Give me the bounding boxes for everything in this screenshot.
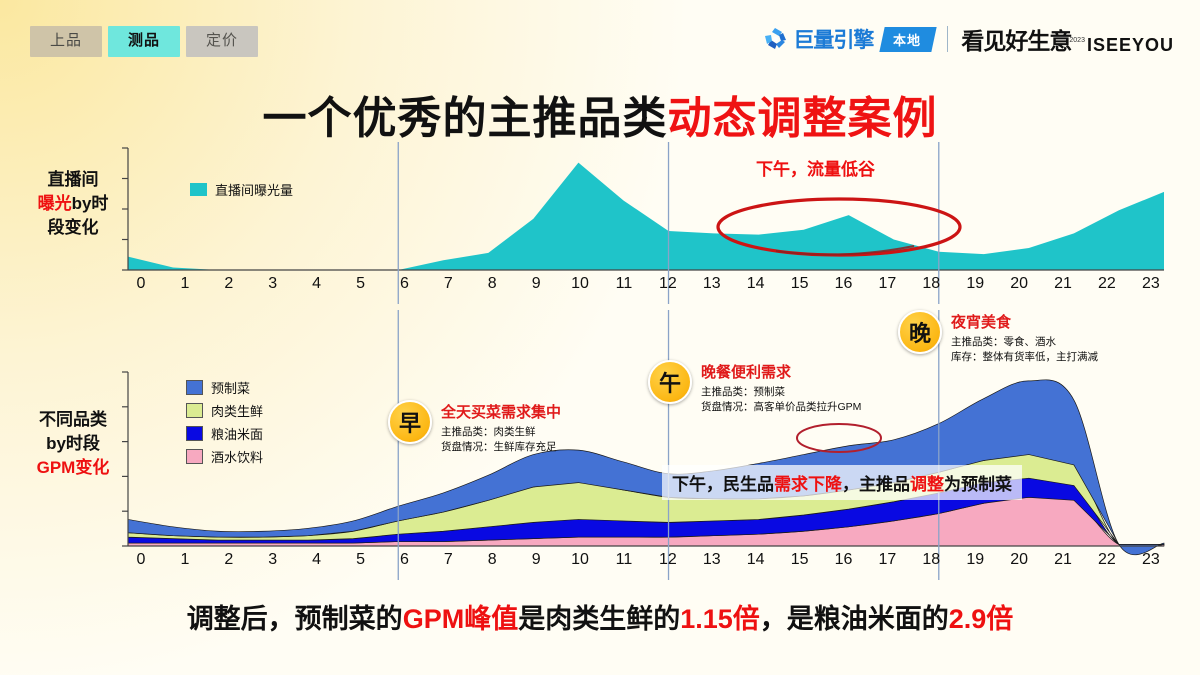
legend-label-jiushui: 酒水饮料 xyxy=(211,447,263,466)
badge-noon: 午 xyxy=(648,360,692,404)
page-title: 一个优秀的主推品类动态调整案例 xyxy=(0,82,1200,146)
x-tick-4: 4 xyxy=(304,275,330,293)
x-tick-10: 10 xyxy=(567,275,593,293)
legend-label-yuzhicai: 预制菜 xyxy=(211,378,250,397)
badge-evening: 晚 xyxy=(898,310,942,354)
iseeyou-logo: 看见好生意 2023 ISEEYOU xyxy=(961,22,1174,56)
x-tick-5: 5 xyxy=(348,275,374,293)
x-tick-12: 12 xyxy=(655,551,681,569)
card-evening-line2: 库存：整体有货率低，主打满减 xyxy=(951,350,1098,365)
footer-part3: ，是粮油米面的 xyxy=(760,604,949,634)
legend-exposure: 直播间曝光量 xyxy=(190,180,293,199)
x-tick-11: 11 xyxy=(611,551,637,569)
x-tick-21: 21 xyxy=(1050,551,1076,569)
tab-dingjia[interactable]: 定价 xyxy=(186,26,258,57)
brand-divider xyxy=(947,26,948,52)
x-tick-6: 6 xyxy=(391,551,417,569)
x-tick-2: 2 xyxy=(216,551,242,569)
legend-item-liangyou: 粮油米面 xyxy=(186,424,263,443)
annotation-traffic-valley: 下午，流量低谷 xyxy=(756,155,875,180)
card-noon: 午 晚餐便利需求 主推品类：预制菜 货盘情况：高客单价品类拉升GPM xyxy=(648,360,861,415)
x-tick-12: 12 xyxy=(655,275,681,293)
gpm-chart-x-axis: 01234567891011121314151617181920212223 xyxy=(128,548,1164,572)
x-tick-18: 18 xyxy=(918,551,944,569)
x-tick-19: 19 xyxy=(962,551,988,569)
side-label2-line3: GPM变化 xyxy=(18,456,128,480)
iseeyou-cn: 看见好生意 xyxy=(961,22,1071,56)
x-tick-14: 14 xyxy=(743,275,769,293)
legend-label-exposure: 直播间曝光量 xyxy=(215,180,293,199)
x-tick-21: 21 xyxy=(1050,275,1076,293)
title-black: 一个优秀的主推品类 xyxy=(263,94,668,143)
footer-red2: 1.15倍 xyxy=(680,604,760,634)
banner-red1: 需求下降 xyxy=(774,475,842,494)
x-tick-8: 8 xyxy=(479,551,505,569)
brand-lockup: 巨量引擎 本地 看见好生意 2023 ISEEYOU xyxy=(764,22,1174,56)
card-noon-heading: 晚餐便利需求 xyxy=(701,361,861,382)
x-tick-7: 7 xyxy=(435,275,461,293)
legend-label-roulei: 肉类生鲜 xyxy=(211,401,263,420)
legend-swatch-exposure xyxy=(190,183,207,196)
category-gpm-stacked-area-chart xyxy=(128,372,1164,546)
legend-item-yuzhicai: 预制菜 xyxy=(186,378,263,397)
x-tick-3: 3 xyxy=(260,275,286,293)
juliang-engine-logo: 巨量引擎 xyxy=(764,24,873,54)
stage-tabs: 上品 测品 定价 xyxy=(30,26,258,57)
juliang-mark-icon xyxy=(764,27,788,51)
x-tick-17: 17 xyxy=(874,551,900,569)
legend-swatch-roulei xyxy=(186,403,203,418)
x-tick-19: 19 xyxy=(962,275,988,293)
legend-categories: 预制菜 肉类生鲜 粮油米面 酒水饮料 xyxy=(186,378,263,470)
x-tick-20: 20 xyxy=(1006,551,1032,569)
card-morning-heading: 全天买菜需求集中 xyxy=(441,401,561,422)
side-label-exposure: 直播间 曝光by时 段变化 xyxy=(18,168,128,240)
title-red: 动态调整案例 xyxy=(668,94,938,143)
x-tick-23: 23 xyxy=(1138,275,1164,293)
x-tick-1: 1 xyxy=(172,551,198,569)
x-tick-15: 15 xyxy=(787,275,813,293)
x-tick-22: 22 xyxy=(1094,551,1120,569)
x-tick-0: 0 xyxy=(128,551,154,569)
x-tick-4: 4 xyxy=(304,551,330,569)
card-evening-line1: 主推品类：零食、酒水 xyxy=(951,335,1098,350)
x-tick-11: 11 xyxy=(611,275,637,293)
banner-part3: 为预制菜 xyxy=(944,475,1012,494)
local-badge: 本地 xyxy=(880,27,937,52)
side-label2-line2: by时段 xyxy=(18,432,128,456)
x-tick-5: 5 xyxy=(348,551,374,569)
x-tick-6: 6 xyxy=(391,275,417,293)
side-label-line1: 直播间 xyxy=(18,168,128,192)
side-label2-line1: 不同品类 xyxy=(18,408,128,432)
banner-part1: 下午，民生品 xyxy=(672,475,774,494)
exposure-area xyxy=(128,163,1164,270)
card-morning-line2: 货盘情况：生鲜库存充足 xyxy=(441,440,561,455)
banner-part2: ，主推品 xyxy=(842,475,910,494)
x-tick-22: 22 xyxy=(1094,275,1120,293)
x-tick-7: 7 xyxy=(435,551,461,569)
legend-label-liangyou: 粮油米面 xyxy=(211,424,263,443)
card-morning-line1: 主推品类：肉类生鲜 xyxy=(441,425,561,440)
x-tick-20: 20 xyxy=(1006,275,1032,293)
badge-morning: 早 xyxy=(388,400,432,444)
iseeyou-en: ISEEYOU xyxy=(1087,35,1174,56)
footer-summary: 调整后，预制菜的GPM峰值是肉类生鲜的1.15倍，是粮油米面的2.9倍 xyxy=(0,597,1200,636)
x-tick-2: 2 xyxy=(216,275,242,293)
juliang-engine-text: 巨量引擎 xyxy=(793,24,873,54)
card-noon-line2: 货盘情况：高客单价品类拉升GPM xyxy=(701,400,861,415)
x-tick-9: 9 xyxy=(523,551,549,569)
legend-item-roulei: 肉类生鲜 xyxy=(186,401,263,420)
tab-cepin[interactable]: 测品 xyxy=(108,26,180,57)
x-tick-13: 13 xyxy=(699,551,725,569)
side-label-line3: 段变化 xyxy=(18,216,128,240)
footer-part2: 是肉类生鲜的 xyxy=(518,604,680,634)
x-tick-23: 23 xyxy=(1138,551,1164,569)
slide-root: 上品 测品 定价 巨量引擎 本地 看见好生意 2023 ISEEYOU xyxy=(0,0,1200,675)
x-tick-10: 10 xyxy=(567,551,593,569)
iseeyou-year: 2023 xyxy=(1069,37,1085,44)
side-label-line2-black: by时 xyxy=(72,194,109,213)
card-evening: 晚 夜宵美食 主推品类：零食、酒水 库存：整体有货率低，主打满减 xyxy=(898,310,1098,365)
card-evening-heading: 夜宵美食 xyxy=(951,311,1098,332)
x-tick-0: 0 xyxy=(128,275,154,293)
x-tick-8: 8 xyxy=(479,275,505,293)
x-tick-3: 3 xyxy=(260,551,286,569)
card-noon-line1: 主推品类：预制菜 xyxy=(701,385,861,400)
x-tick-13: 13 xyxy=(699,275,725,293)
x-tick-17: 17 xyxy=(874,275,900,293)
x-tick-9: 9 xyxy=(523,275,549,293)
side-label-gpm: 不同品类 by时段 GPM变化 xyxy=(18,408,128,480)
footer-red3: 2.9倍 xyxy=(949,604,1014,634)
x-tick-14: 14 xyxy=(743,551,769,569)
x-tick-16: 16 xyxy=(831,275,857,293)
x-tick-18: 18 xyxy=(918,275,944,293)
legend-swatch-liangyou xyxy=(186,426,203,441)
x-tick-16: 16 xyxy=(831,551,857,569)
exposure-chart-x-axis: 01234567891011121314151617181920212223 xyxy=(128,272,1164,296)
x-tick-1: 1 xyxy=(172,275,198,293)
exposure-area-chart xyxy=(128,148,1164,270)
card-morning: 早 全天买菜需求集中 主推品类：肉类生鲜 货盘情况：生鲜库存充足 xyxy=(388,400,561,455)
footer-red1: GPM峰值 xyxy=(403,604,519,634)
x-tick-15: 15 xyxy=(787,551,813,569)
legend-swatch-yuzhicai xyxy=(186,380,203,395)
side-label-line2-red: 曝光 xyxy=(38,194,72,213)
legend-swatch-jiushui xyxy=(186,449,203,464)
annotation-banner-afternoon: 下午，民生品需求下降，主推品调整为预制菜 xyxy=(672,470,1012,495)
tab-shangpin[interactable]: 上品 xyxy=(30,26,102,57)
banner-red2: 调整 xyxy=(910,475,944,494)
footer-part1: 调整后，预制菜的 xyxy=(187,604,403,634)
legend-item-jiushui: 酒水饮料 xyxy=(186,447,263,466)
